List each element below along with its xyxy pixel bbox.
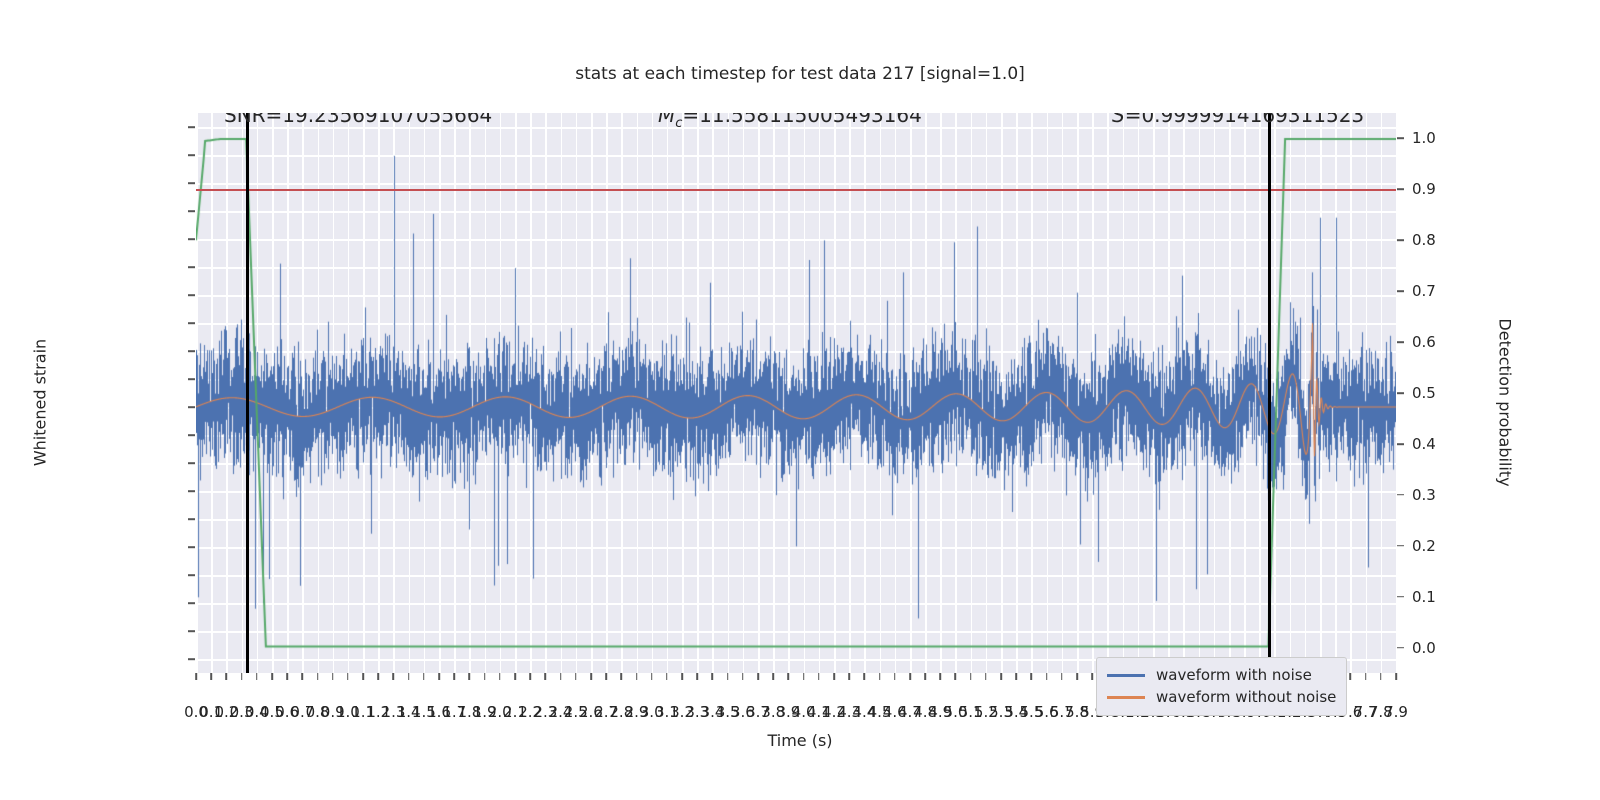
y-tick-mark-left <box>188 322 195 324</box>
y-tick-mark-left <box>188 462 195 464</box>
x-tick-mark <box>575 673 577 680</box>
x-tick-mark <box>453 673 455 680</box>
y-tick-mark-right <box>1397 545 1404 547</box>
x-tick-mark <box>803 673 805 680</box>
x-tick-mark <box>393 673 395 680</box>
marker-line-left <box>246 113 248 673</box>
legend-item[interactable]: waveform without noise <box>1107 686 1336 708</box>
annotation-score: S=0.9999914169311523 <box>1112 113 1364 127</box>
x-tick-mark <box>879 673 881 680</box>
x-axis-label: Time (s) <box>0 731 1600 750</box>
y-tick-mark-left <box>188 154 195 156</box>
y-tick-mark-left <box>188 574 195 576</box>
legend: waveform with noise waveform without noi… <box>1096 657 1347 716</box>
x-tick-mark <box>742 673 744 680</box>
x-tick-mark <box>317 673 319 680</box>
legend-swatch-clean <box>1107 696 1145 699</box>
x-tick-mark <box>757 673 759 680</box>
y-tick-mark-left <box>188 546 195 548</box>
x-tick-mark <box>924 673 926 680</box>
y-tick-label-right: 0.7 <box>1412 282 1436 300</box>
x-tick-mark <box>469 673 471 680</box>
legend-label: waveform with noise <box>1156 666 1312 684</box>
x-tick-mark <box>955 673 957 680</box>
y-tick-mark-left <box>188 602 195 604</box>
y-tick-mark-left <box>188 434 195 436</box>
x-tick-mark <box>1365 673 1367 680</box>
detection-threshold-line <box>196 189 1396 191</box>
x-tick-mark <box>605 673 607 680</box>
x-tick-mark <box>636 673 638 680</box>
x-tick-mark <box>226 673 228 680</box>
y-tick-mark-right <box>1397 443 1404 445</box>
y-tick-mark-left <box>188 406 195 408</box>
x-tick-mark <box>864 673 866 680</box>
y-tick-mark-left <box>188 266 195 268</box>
x-tick-mark <box>545 673 547 680</box>
x-tick-mark <box>332 673 334 680</box>
x-tick-mark <box>1091 673 1093 680</box>
x-tick-mark <box>1015 673 1017 680</box>
x-tick-mark <box>590 673 592 680</box>
y-tick-mark-left <box>188 238 195 240</box>
x-tick-mark <box>970 673 972 680</box>
y-tick-mark-right <box>1397 189 1404 191</box>
x-tick-mark <box>195 673 197 680</box>
y-axis-label-right: Detection probability <box>1496 223 1515 583</box>
x-tick-mark <box>1350 673 1352 680</box>
x-tick-mark <box>484 673 486 680</box>
x-tick-mark <box>727 673 729 680</box>
x-tick-mark <box>210 673 212 680</box>
x-tick-mark <box>514 673 516 680</box>
y-tick-mark-left <box>188 518 195 520</box>
x-tick-mark <box>666 673 668 680</box>
y-tick-mark-left <box>188 378 195 380</box>
marker-line-right <box>1268 113 1270 673</box>
x-tick-mark <box>1031 673 1033 680</box>
x-tick-mark <box>712 673 714 680</box>
y-tick-mark-right <box>1397 290 1404 292</box>
y-tick-label-right: 1.0 <box>1412 129 1436 147</box>
x-tick-mark <box>940 673 942 680</box>
s-symbol: S <box>1112 113 1125 127</box>
waveform-trace-canvas <box>196 113 1396 673</box>
y-tick-mark-left <box>188 658 195 660</box>
y-tick-mark-left <box>188 182 195 184</box>
mc-symbol: M <box>658 113 675 127</box>
matplotlib-figure: stats at each timestep for test data 217… <box>0 0 1600 800</box>
y-tick-mark-right <box>1397 138 1404 140</box>
y-tick-label-right: 0.3 <box>1412 486 1436 504</box>
legend-swatch-noisy <box>1107 674 1145 677</box>
figure-title: stats at each timestep for test data 217… <box>0 64 1600 84</box>
y-tick-label-right: 0.5 <box>1412 384 1436 402</box>
x-tick-mark <box>529 673 531 680</box>
y-tick-label-right: 0.9 <box>1412 180 1436 198</box>
x-tick-mark <box>438 673 440 680</box>
y-tick-mark-left <box>188 350 195 352</box>
y-tick-label-right: 0.4 <box>1412 435 1436 453</box>
s-value: =0.9999914169311523 <box>1125 113 1364 127</box>
y-tick-mark-left <box>188 126 195 128</box>
x-tick-mark <box>985 673 987 680</box>
x-tick-mark <box>788 673 790 680</box>
x-tick-mark <box>347 673 349 680</box>
x-tick-mark <box>241 673 243 680</box>
y-tick-mark-left <box>188 210 195 212</box>
y-tick-mark-left <box>188 630 195 632</box>
x-tick-mark <box>1380 673 1382 680</box>
x-tick-mark <box>286 673 288 680</box>
y-tick-mark-right <box>1397 596 1404 598</box>
x-tick-mark <box>499 673 501 680</box>
x-tick-mark <box>1061 673 1063 680</box>
x-tick-mark <box>377 673 379 680</box>
x-tick-mark <box>302 673 304 680</box>
y-tick-mark-right <box>1397 239 1404 241</box>
x-tick-mark <box>256 673 258 680</box>
y-tick-mark-left <box>188 490 195 492</box>
y-tick-label-right: 0.0 <box>1412 639 1436 657</box>
x-tick-mark <box>772 673 774 680</box>
x-tick-label: 7.9 <box>1384 703 1408 721</box>
y-axis-label-left: Whitened strain <box>31 223 50 583</box>
x-tick-mark <box>1046 673 1048 680</box>
y-tick-label-right: 0.1 <box>1412 588 1436 606</box>
x-tick-mark <box>271 673 273 680</box>
y-tick-mark-right <box>1397 341 1404 343</box>
y-tick-label-right: 0.2 <box>1412 537 1436 555</box>
x-tick-mark <box>408 673 410 680</box>
y-tick-mark-right <box>1397 392 1404 394</box>
x-tick-mark <box>681 673 683 680</box>
x-tick-mark <box>560 673 562 680</box>
legend-label: waveform without noise <box>1156 688 1336 706</box>
x-tick-mark <box>423 673 425 680</box>
x-tick-mark <box>621 673 623 680</box>
x-tick-mark <box>1076 673 1078 680</box>
x-tick-mark <box>894 673 896 680</box>
x-tick-mark <box>909 673 911 680</box>
x-tick-mark <box>1395 673 1397 680</box>
x-tick-mark <box>1000 673 1002 680</box>
y-tick-label-right: 0.6 <box>1412 333 1436 351</box>
x-tick-mark <box>833 673 835 680</box>
y-tick-label-right: 0.8 <box>1412 231 1436 249</box>
annotation-chirp-mass: Mc=11.558115005493164 <box>658 113 922 131</box>
x-tick-mark <box>818 673 820 680</box>
y-tick-mark-right <box>1397 647 1404 649</box>
x-tick-mark <box>696 673 698 680</box>
legend-item[interactable]: waveform with noise <box>1107 664 1336 686</box>
y-tick-mark-left <box>188 294 195 296</box>
x-tick-mark <box>651 673 653 680</box>
mc-value: =11.558115005493164 <box>682 113 921 127</box>
x-tick-mark <box>848 673 850 680</box>
y-tick-mark-right <box>1397 494 1404 496</box>
annotation-snr: SNR=19.23569107055664 <box>224 113 492 127</box>
x-tick-mark <box>362 673 364 680</box>
plot-axes: SNR=19.23569107055664 Mc=11.558115005493… <box>196 113 1396 673</box>
